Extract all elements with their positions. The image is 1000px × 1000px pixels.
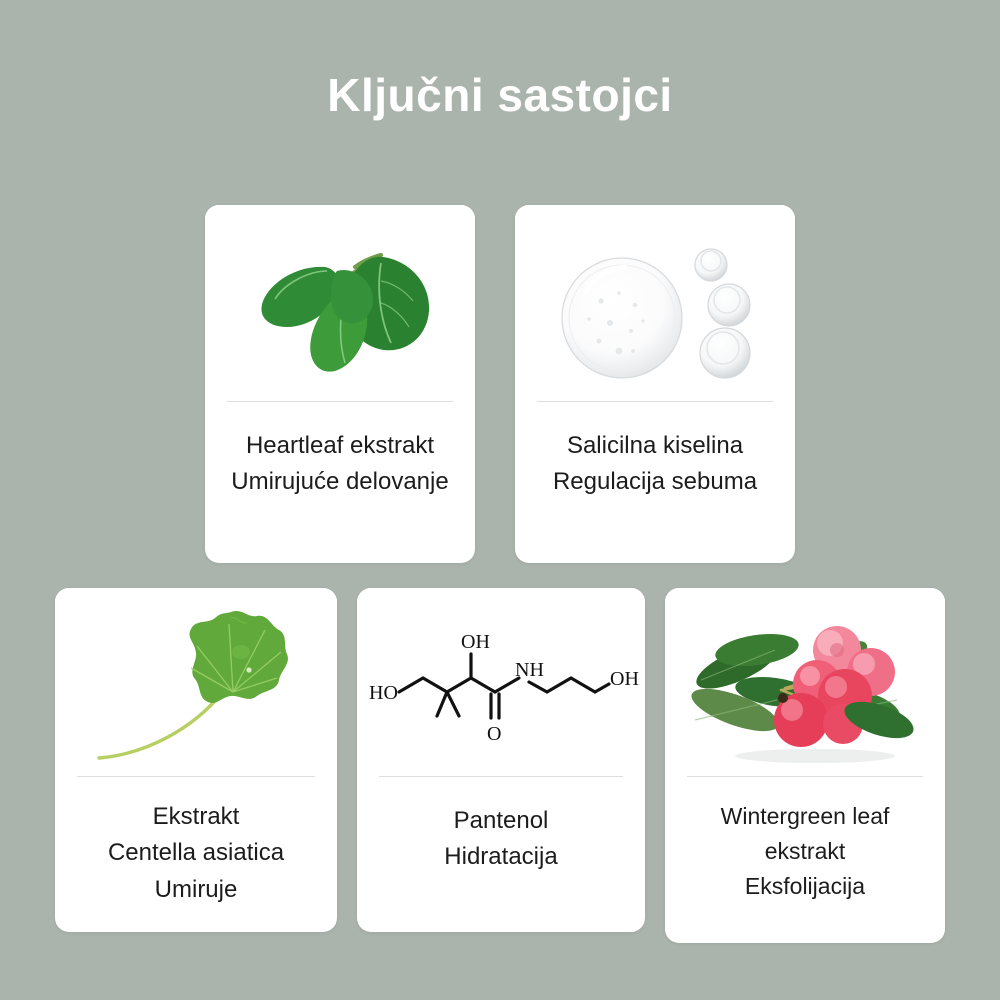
label-amide-nitrogen: NH	[515, 659, 544, 681]
panthenol-chemical-structure-diagram: HO OH NH O OH	[357, 588, 645, 776]
ingredient-card-heartleaf[interactable]: Heartleaf ekstrakt Umirujuće delovanje	[205, 205, 475, 563]
label-hydroxyl-right: OH	[610, 668, 639, 690]
ingredient-caption: Salicilna kiselina Regulacija sebuma	[515, 402, 795, 563]
ingredient-caption: Pantenol Hidratacija	[357, 777, 645, 932]
ingredient-caption: Ekstrakt Centella asiatica Umiruje	[55, 777, 337, 932]
ingredient-caption: Wintergreen leaf ekstrakt Eksfolijacija	[665, 777, 945, 943]
centella-asiatica-leaf-photo	[55, 588, 337, 776]
ingredient-caption: Heartleaf ekstrakt Umirujuće delovanje	[205, 402, 475, 563]
ingredient-card-centella[interactable]: Ekstrakt Centella asiatica Umiruje	[55, 588, 337, 932]
ingredient-card-wintergreen[interactable]: Wintergreen leaf ekstrakt Eksfolijacija	[665, 588, 945, 943]
page-title: Ključni sastojci	[0, 72, 1000, 118]
ingredient-card-salicylic-acid[interactable]: Salicilna kiselina Regulacija sebuma	[515, 205, 795, 563]
label-hydroxyl-top: OH	[461, 631, 490, 653]
heartleaf-plant-photo	[205, 205, 475, 401]
clear-gel-droplets-photo	[515, 205, 795, 401]
label-hydroxyl-left: HO	[369, 682, 398, 704]
wintergreen-berries-photo	[665, 588, 945, 776]
ingredient-card-panthenol[interactable]: HO OH NH O OH Pantenol Hidratacija	[357, 588, 645, 932]
label-carbonyl-oxygen: O	[487, 723, 501, 745]
